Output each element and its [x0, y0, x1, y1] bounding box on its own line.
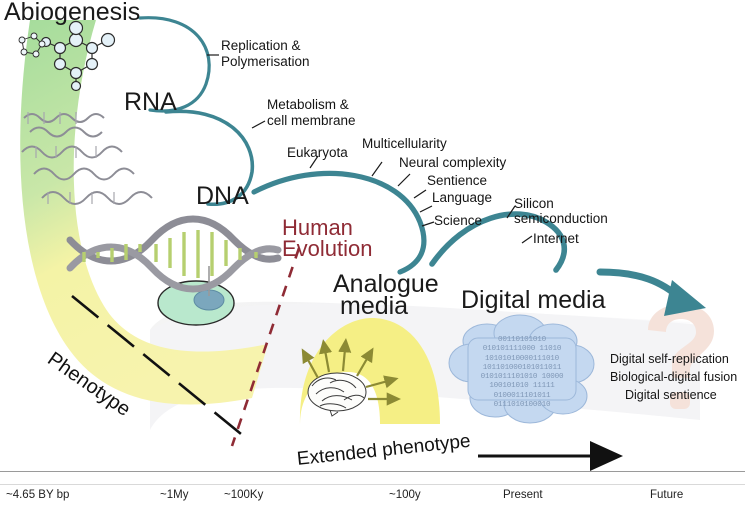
human-evolution-label-line2: Evolution: [282, 237, 373, 262]
transition-label-silicon-line2: semiconduction: [514, 211, 608, 226]
future-outcome-biological-digital-fusion: Biological-digital fusion: [610, 370, 737, 384]
stage-label-analogue-media-line2: media: [340, 292, 408, 320]
future-outcome-digital-sentience: Digital sentience: [625, 388, 717, 402]
binary-row: 010101111000 11010: [470, 345, 574, 354]
transition-label-replication-line1: Replication &: [221, 38, 301, 53]
timeline-tick-5: Future: [650, 489, 683, 502]
transition-label-neural-complexity: Neural complexity: [399, 155, 506, 170]
future-outcome-digital-self-replication: Digital self-replication: [610, 352, 729, 366]
transition-label-silicon-line1: Silicon: [514, 196, 554, 211]
binary-row: 0101011101010 10000: [470, 373, 574, 382]
transition-label-replication-line2: Polymerisation: [221, 54, 310, 69]
transition-label-sentience: Sentience: [427, 173, 487, 188]
binary-row: 10101010000111010: [470, 355, 574, 364]
timeline-tick-4: Present: [503, 489, 543, 502]
binary-row: 100101010 11111: [470, 382, 574, 391]
transition-label-eukaryota: Eukaryota: [287, 145, 348, 160]
timeline-tick-0: ~4.65 BY bp: [6, 489, 69, 502]
stage-label-rna: RNA: [124, 88, 177, 116]
binary-cloud-text: 00110101010 010101111000 11010 101010100…: [470, 336, 574, 410]
timeline-axis-rule: [0, 471, 745, 472]
binary-row: 0111010100010: [470, 401, 574, 410]
timeline-tick-2: ~100Ky: [224, 489, 263, 502]
binary-row: 0100011101011: [470, 392, 574, 401]
transition-label-language: Language: [432, 190, 492, 205]
dna-helix: [70, 219, 278, 289]
transition-label-internet: Internet: [533, 231, 579, 246]
binary-row: 00110101010: [470, 336, 574, 345]
stage-label-dna: DNA: [196, 182, 249, 210]
stage-label-abiogenesis: Abiogenesis: [4, 0, 140, 26]
transition-label-metabolism-line1: Metabolism &: [267, 97, 349, 112]
timeline-tick-3: ~100y: [389, 489, 421, 502]
timeline-axis-rule-lower: [0, 484, 745, 485]
stage-label-digital-media: Digital media: [461, 286, 606, 314]
transition-label-science: Science: [434, 213, 482, 228]
curve-digital-future: [600, 272, 680, 298]
genotype-band: [6, 20, 268, 415]
transition-label-multicellularity: Multicellularity: [362, 136, 447, 151]
evolution-timeline-figure: Abiogenesis RNA DNA Analogue media Digit…: [0, 0, 745, 516]
timeline-tick-1: ~1My: [160, 489, 188, 502]
binary-row: 101101000101011011: [470, 364, 574, 373]
transition-label-metabolism-line2: cell membrane: [267, 113, 356, 128]
